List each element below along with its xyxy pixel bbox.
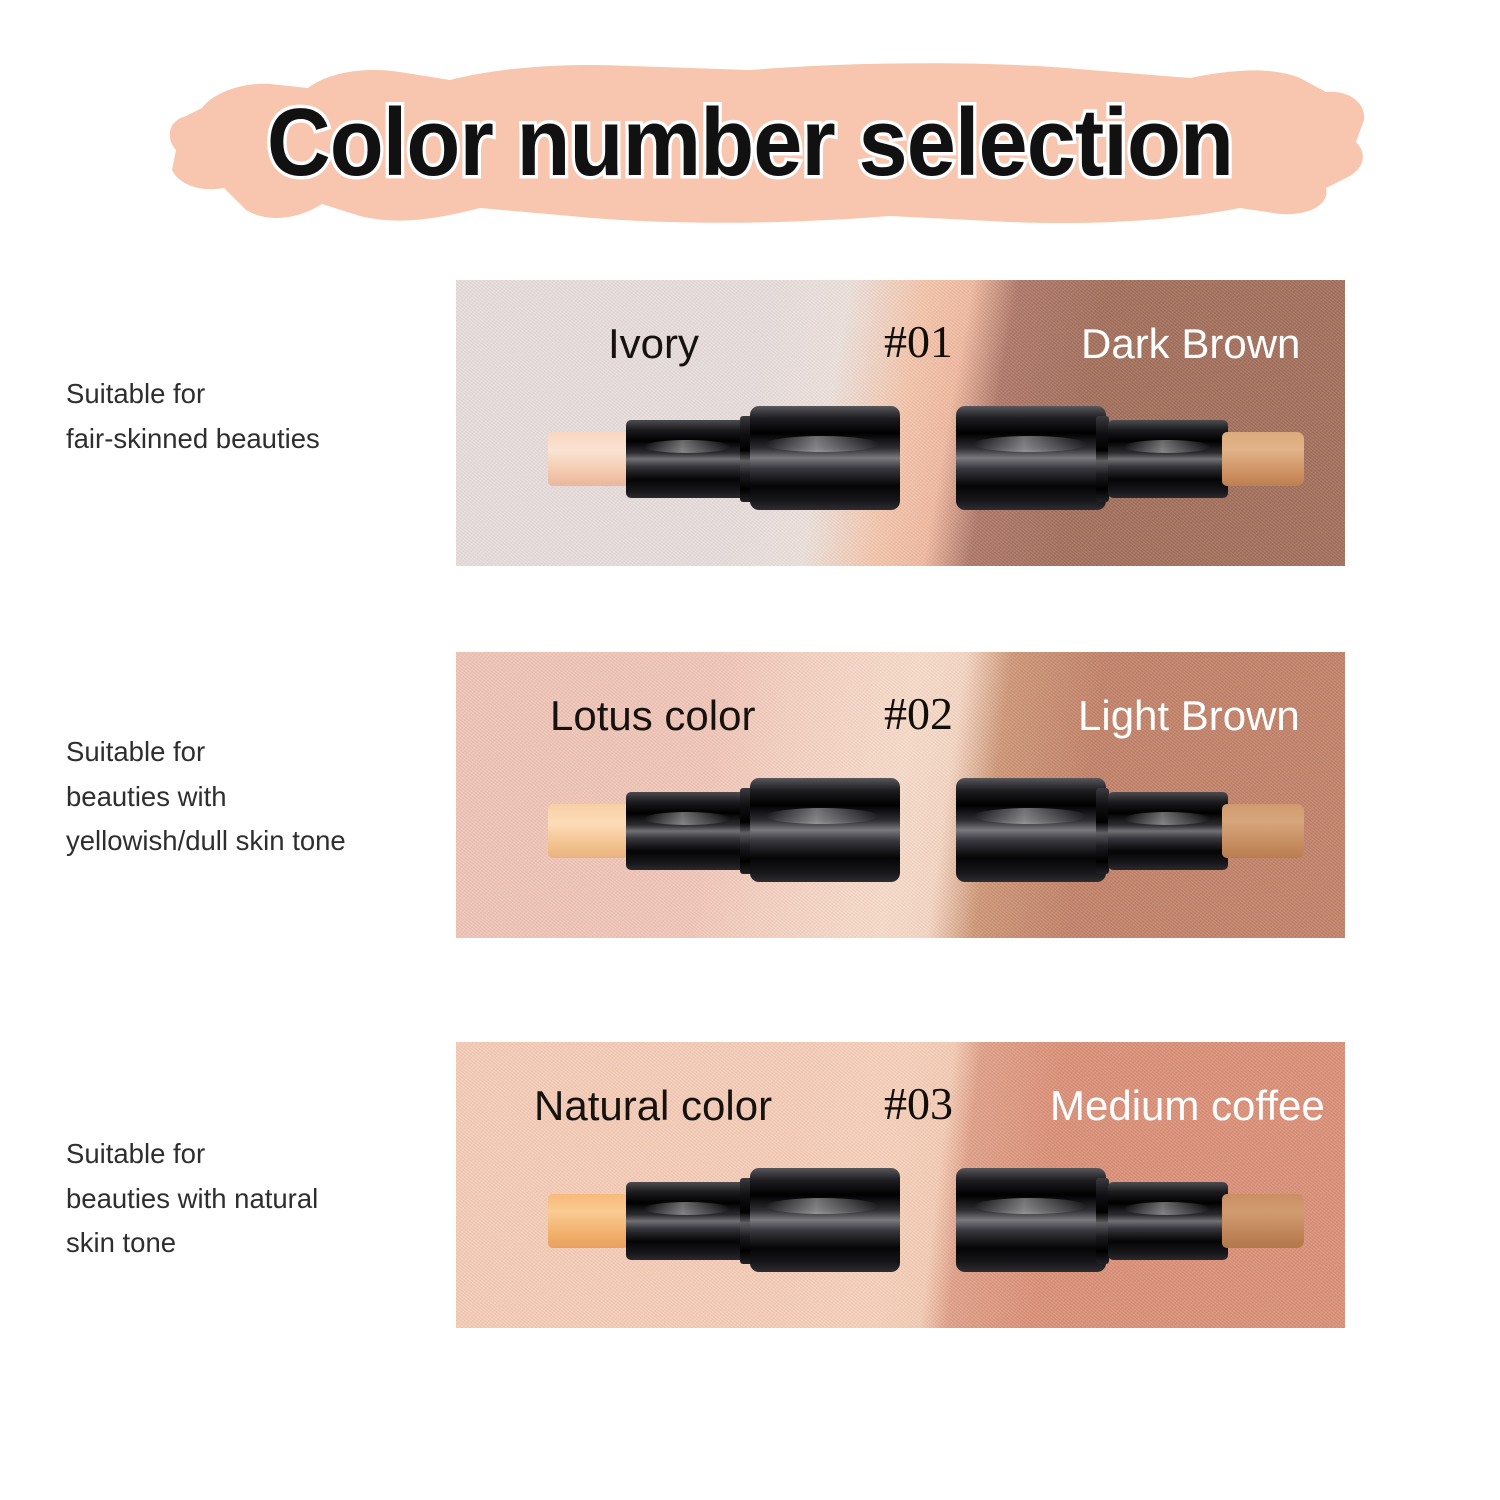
right-shade-label: Light Brown [1078,692,1300,740]
color-option-row: Suitable for beauties with natural skin … [0,1042,1500,1328]
product-barrel [1108,792,1228,870]
product-cap [750,778,900,882]
right-shade-label: Medium coffee [1050,1082,1325,1130]
caption-line: Suitable for [66,372,446,417]
swatch-panel: Ivory #01 Dark Brown [456,280,1345,566]
caption-line: yellowish/dull skin tone [66,819,446,864]
product-cap [750,1168,900,1272]
caption-line: fair-skinned beauties [66,417,446,462]
product-tip [548,1194,630,1248]
product-tip [548,432,630,486]
shade-code: #03 [884,1077,953,1130]
swatch-panel: Lotus color #02 Light Brown [456,652,1345,938]
product-cap [956,778,1106,882]
left-shade-label: Ivory [608,320,699,368]
product-tip [1222,1194,1304,1248]
page-title: Color number selection [60,58,1440,228]
product-cap [956,406,1106,510]
row-caption: Suitable for fair-skinned beauties [66,372,446,461]
product-stick-right [956,1168,1308,1272]
product-cap [956,1168,1106,1272]
left-shade-label: Natural color [534,1082,772,1130]
product-cap [750,406,900,510]
color-option-row: Suitable for beauties with yellowish/dul… [0,652,1500,938]
product-barrel [1108,420,1228,498]
product-barrel [626,1182,746,1260]
right-shade-label: Dark Brown [1081,320,1300,368]
row-caption: Suitable for beauties with yellowish/dul… [66,730,446,864]
product-stick-left [548,406,900,510]
caption-line: Suitable for [66,1132,446,1177]
shade-code: #02 [884,687,953,740]
caption-line: beauties with [66,775,446,820]
left-shade-label: Lotus color [550,692,755,740]
product-stick-left [548,778,900,882]
caption-line: skin tone [66,1221,446,1266]
product-tip [1222,432,1304,486]
row-caption: Suitable for beauties with natural skin … [66,1132,446,1266]
product-barrel [1108,1182,1228,1260]
product-stick-right [956,406,1308,510]
product-stick-right [956,778,1308,882]
product-tip [1222,804,1304,858]
caption-line: Suitable for [66,730,446,775]
product-barrel [626,792,746,870]
product-tip [548,804,630,858]
shade-code: #01 [884,315,953,368]
page-title-block: Color number selection [0,58,1500,228]
product-stick-left [548,1168,900,1272]
color-option-row: Suitable for fair-skinned beauties Ivory… [0,280,1500,566]
swatch-panel: Natural color #03 Medium coffee [456,1042,1345,1328]
caption-line: beauties with natural [66,1177,446,1222]
product-barrel [626,420,746,498]
